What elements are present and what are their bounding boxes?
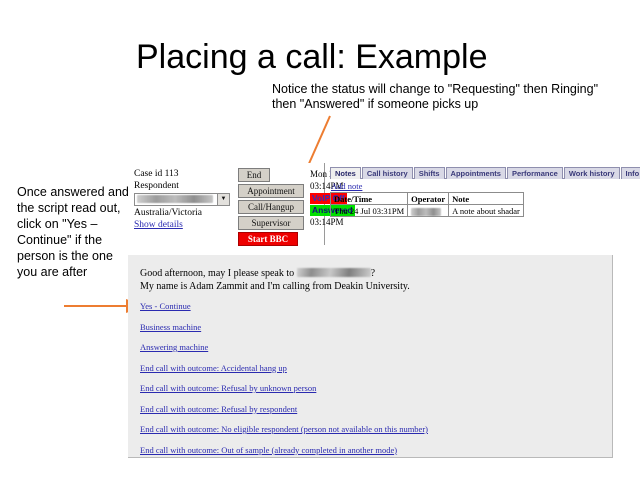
appointment-button[interactable]: Appointment xyxy=(238,184,304,198)
tab-notes[interactable]: Notes xyxy=(330,167,361,179)
show-details-link[interactable]: Show details xyxy=(134,220,183,230)
redacted-name xyxy=(297,268,371,277)
link-out-of-sample[interactable]: End call with outcome: Out of sample (al… xyxy=(140,445,428,455)
call-hangup-button[interactable]: Call/Hangup xyxy=(238,200,304,214)
tab-appointments[interactable]: Appointments xyxy=(446,167,506,179)
script-line-1-before: Good afternoon, may I please speak to xyxy=(140,268,297,279)
tab-info[interactable]: Info xyxy=(621,167,640,179)
tabs-and-notes: Notes Call history Shifts Appointments P… xyxy=(330,167,614,217)
tab-call-history[interactable]: Call history xyxy=(362,167,413,179)
link-refusal-unknown[interactable]: End call with outcome: Refusal by unknow… xyxy=(140,383,428,393)
link-refusal-respondent[interactable]: End call with outcome: Refusal by respon… xyxy=(140,404,428,414)
tab-bar: Notes Call history Shifts Appointments P… xyxy=(330,167,614,179)
start-bbc-button[interactable]: Start BBC xyxy=(238,232,298,246)
status-time-bottom: 03:14PM xyxy=(310,216,368,228)
callout-status-note: Notice the status will change to "Reques… xyxy=(272,82,602,112)
call-action-buttons: End Appointment Call/Hangup Supervisor S… xyxy=(238,168,312,248)
callout-yes-continue-note: Once answered and the script read out, c… xyxy=(17,184,129,280)
respondent-select[interactable]: ▼ xyxy=(134,193,230,206)
link-answering-machine[interactable]: Answering machine xyxy=(140,342,428,352)
script-intro-text: Good afternoon, may I please speak to ? … xyxy=(140,267,410,293)
script-line-1: Good afternoon, may I please speak to ? xyxy=(140,267,410,280)
col-datetime: Date/Time xyxy=(331,193,408,205)
script-outcome-links: Yes - Continue Business machine Answerin… xyxy=(140,301,428,465)
col-operator: Operator xyxy=(408,193,449,205)
notes-table: Date/Time Operator Note Thu 24 Jul 03:31… xyxy=(330,192,524,217)
link-yes-continue[interactable]: Yes - Continue xyxy=(140,301,428,311)
supervisor-button[interactable]: Supervisor xyxy=(238,216,304,230)
script-line-2: My name is Adam Zammit and I'm calling f… xyxy=(140,280,410,293)
tab-work-history[interactable]: Work history xyxy=(564,167,620,179)
chevron-down-icon[interactable]: ▼ xyxy=(217,194,229,205)
tab-shifts[interactable]: Shifts xyxy=(414,167,445,179)
link-business-machine[interactable]: Business machine xyxy=(140,322,428,332)
script-line-1-after: ? xyxy=(371,268,375,279)
tab-performance[interactable]: Performance xyxy=(507,167,563,179)
application-screenshot: Case id 113 Respondent ▼ Australia/Victo… xyxy=(128,163,614,245)
link-accidental-hang-up[interactable]: End call with outcome: Accidental hang u… xyxy=(140,363,428,373)
cell-note: A note about shadar xyxy=(449,205,524,217)
script-panel: Good afternoon, may I please speak to ? … xyxy=(128,255,613,458)
page-title: Placing a call: Example xyxy=(136,38,488,77)
respondent-select-value xyxy=(135,194,217,206)
cell-datetime: Thu 24 Jul 03:31PM xyxy=(331,205,408,217)
call-control-panel: Case id 113 Respondent ▼ Australia/Victo… xyxy=(128,163,614,245)
link-no-eligible-respondent[interactable]: End call with outcome: No eligible respo… xyxy=(140,424,428,434)
col-note: Note xyxy=(449,193,524,205)
table-header-row: Date/Time Operator Note xyxy=(331,193,524,205)
table-row[interactable]: Thu 24 Jul 03:31PM A note about shadar xyxy=(331,205,524,217)
end-button[interactable]: End xyxy=(238,168,270,182)
add-note-link[interactable]: Add note xyxy=(331,181,362,191)
cell-operator xyxy=(408,205,449,217)
add-note-row: Add note xyxy=(331,181,614,191)
